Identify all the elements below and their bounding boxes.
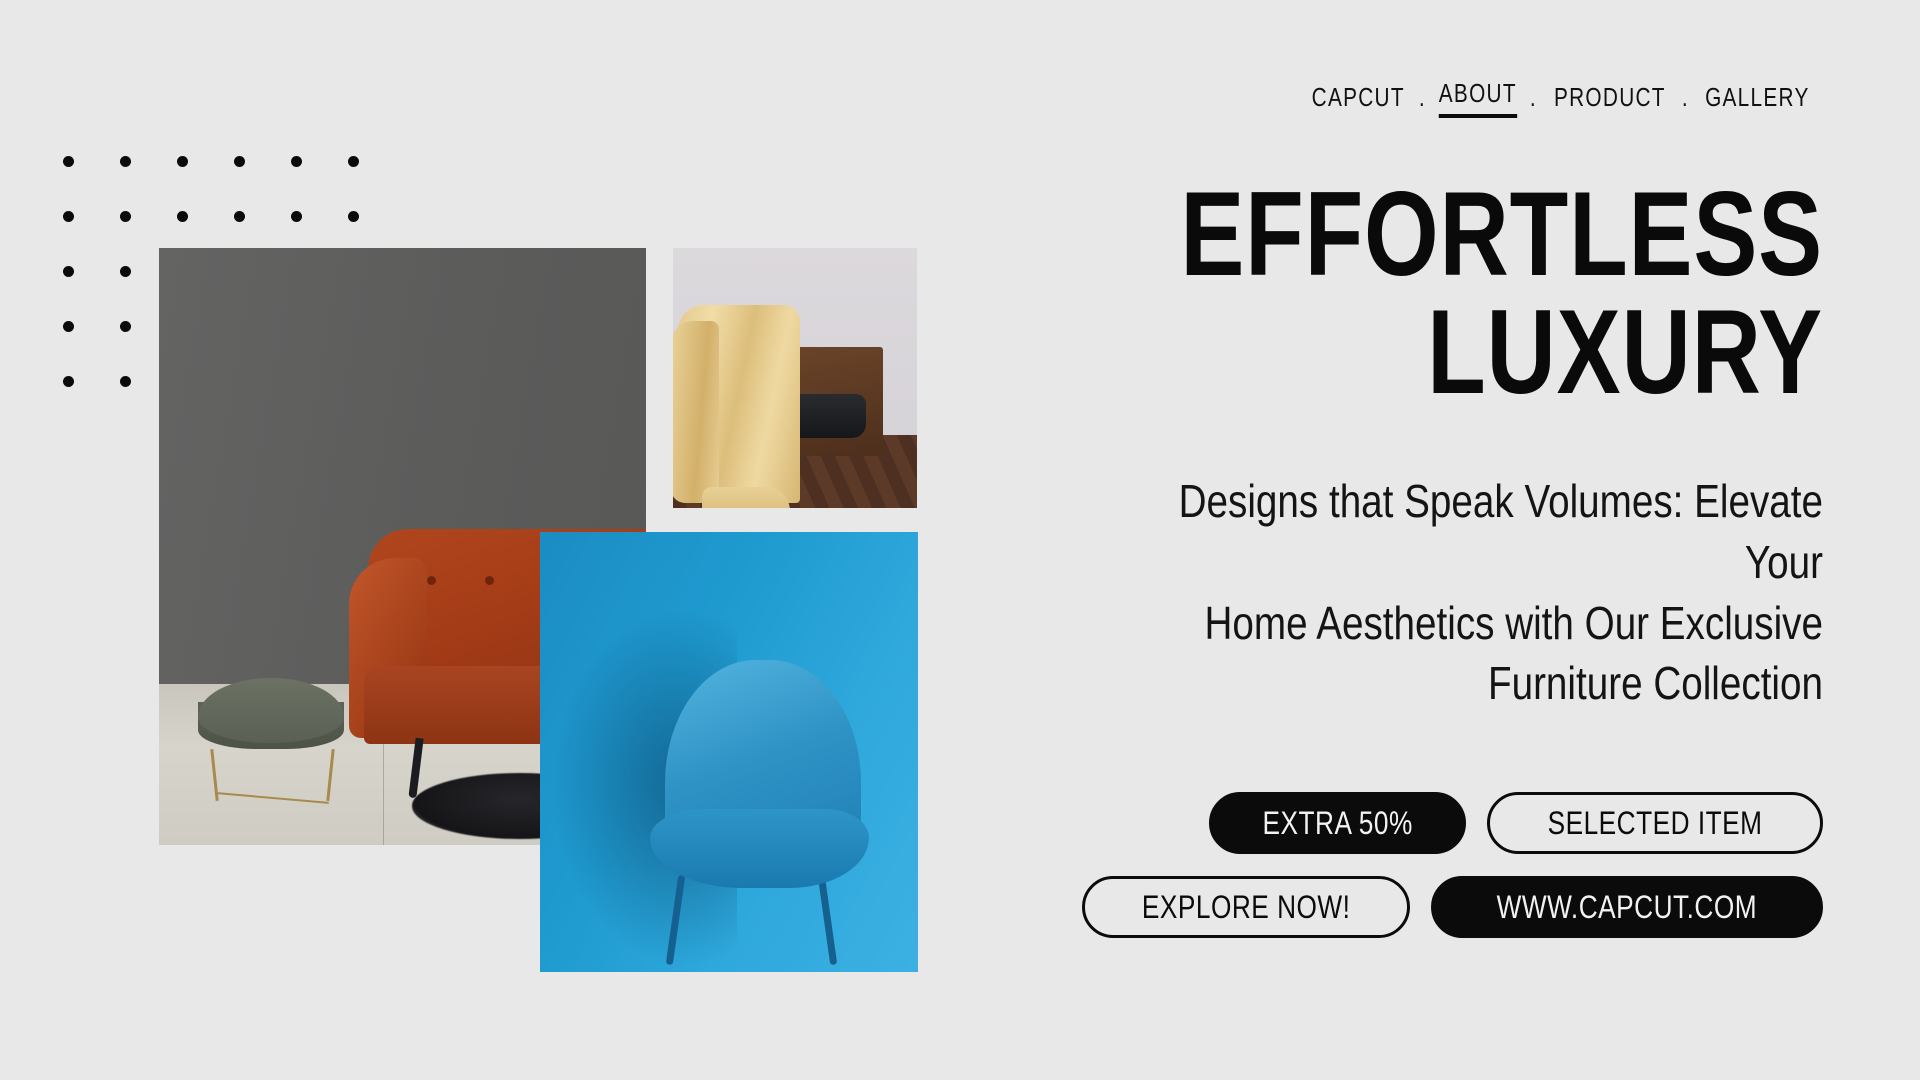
extra-discount-label: EXTRA 50% <box>1262 805 1412 842</box>
website-url-label: WWW.CAPCUT.COM <box>1497 889 1758 926</box>
hero-subtitle-line-1: Designs that Speak Volumes: Elevate Your <box>1151 471 1823 592</box>
extra-discount-button[interactable]: EXTRA 50% <box>1209 792 1466 854</box>
hero-subtitle-line-2: Home Aesthetics with Our Exclusive <box>1151 593 1823 654</box>
cta-row-secondary: EXPLORE NOW! WWW.CAPCUT.COM <box>843 876 1823 938</box>
hero-heading-line-1: EFFORTLESS <box>1039 176 1823 294</box>
website-url-button[interactable]: WWW.CAPCUT.COM <box>1431 876 1823 938</box>
nav-item-product[interactable]: PRODUCT <box>1554 82 1666 118</box>
nav-separator: . <box>1419 82 1426 118</box>
hero-heading: EFFORTLESS LUXURY <box>843 176 1823 411</box>
yellow-draped-cloth <box>678 305 800 503</box>
hero-subtitle: Designs that Speak Volumes: Elevate Your… <box>1023 471 1823 714</box>
explore-now-button[interactable]: EXPLORE NOW! <box>1082 876 1410 938</box>
selected-item-button[interactable]: SELECTED ITEM <box>1487 792 1823 854</box>
nav-item-capcut[interactable]: CAPCUT <box>1312 82 1405 118</box>
hero-heading-line-2: LUXURY <box>1039 294 1823 412</box>
nav-separator: . <box>1682 82 1689 118</box>
content-column: CAPCUT . ABOUT . PRODUCT . GALLERY EFFOR… <box>843 0 1823 1080</box>
nav-separator: . <box>1530 82 1537 118</box>
chair-leg <box>817 875 836 965</box>
selected-item-label: SELECTED ITEM <box>1548 805 1763 842</box>
nav-item-about[interactable]: ABOUT <box>1439 78 1517 118</box>
chair-seat <box>650 809 869 888</box>
cta-row-primary: EXTRA 50% SELECTED ITEM <box>843 792 1823 854</box>
hero-subtitle-line-3: Furniture Collection <box>1151 653 1823 714</box>
nav-item-gallery[interactable]: GALLERY <box>1705 82 1810 118</box>
explore-now-label: EXPLORE NOW! <box>1142 889 1351 926</box>
main-nav: CAPCUT . ABOUT . PRODUCT . GALLERY <box>843 78 1823 118</box>
